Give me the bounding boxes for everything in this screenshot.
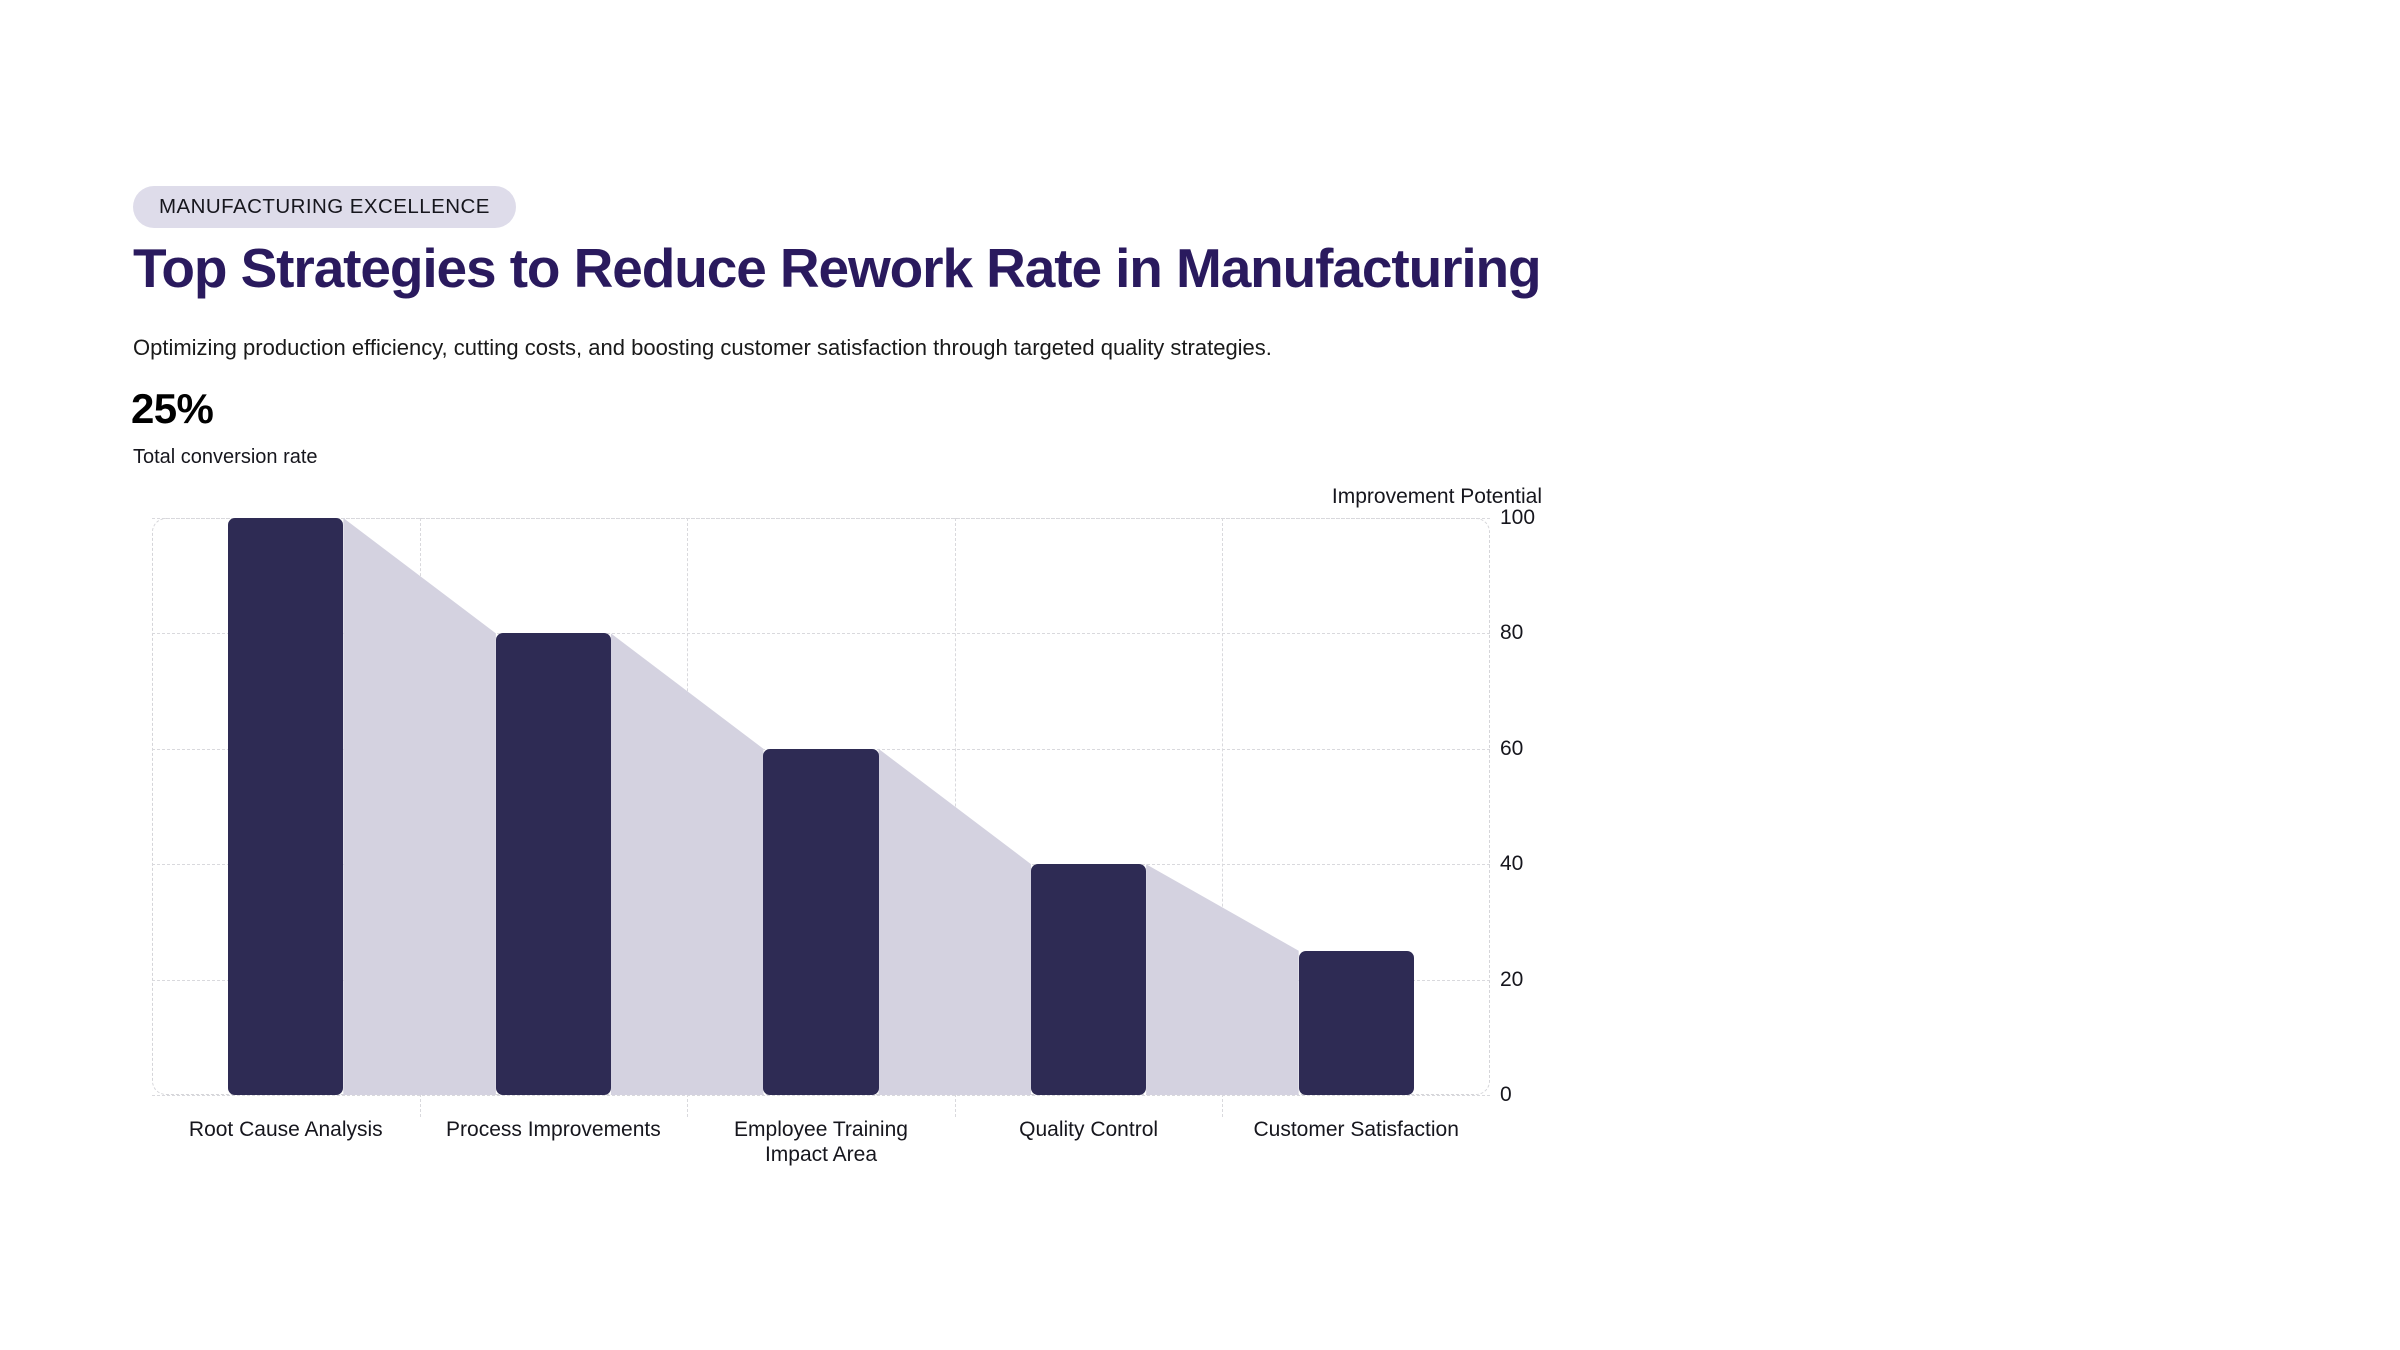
x-tick-label: Quality Control [1019,1118,1158,1142]
x-tick-label: Employee Training [734,1118,908,1142]
y-tick-label: 0 [1500,1083,1512,1107]
x-tick-label: Customer Satisfaction [1253,1118,1458,1142]
x-tick-label: Root Cause Analysis [189,1118,383,1142]
metric-label: Total conversion rate [133,444,318,470]
x-axis-title: Impact Area [765,1143,877,1167]
bar[interactable] [228,518,343,1095]
bar[interactable] [496,633,611,1095]
page-subtitle: Optimizing production efficiency, cuttin… [133,333,1272,363]
chart-page: MANUFACTURING EXCELLENCE Top Strategies … [0,0,2400,1350]
y-tick-label: 80 [1500,621,1523,645]
page-title: Top Strategies to Reduce Rework Rate in … [133,235,1541,301]
funnel-bar-chart: Improvement Potential 020406080100 Root … [152,518,1490,1095]
y-tick-label: 20 [1500,968,1523,992]
gridline-horizontal [152,1095,1490,1096]
bar[interactable] [1299,951,1414,1095]
category-badge: MANUFACTURING EXCELLENCE [133,186,516,228]
bar[interactable] [763,749,878,1095]
bars-group [152,518,1490,1095]
y-tick-label: 40 [1500,852,1523,876]
x-tick-label: Process Improvements [446,1118,661,1142]
bar[interactable] [1031,864,1146,1095]
y-tick-label: 60 [1500,737,1523,761]
metric-value: 25% [131,385,213,433]
y-tick-label: 100 [1500,506,1535,530]
